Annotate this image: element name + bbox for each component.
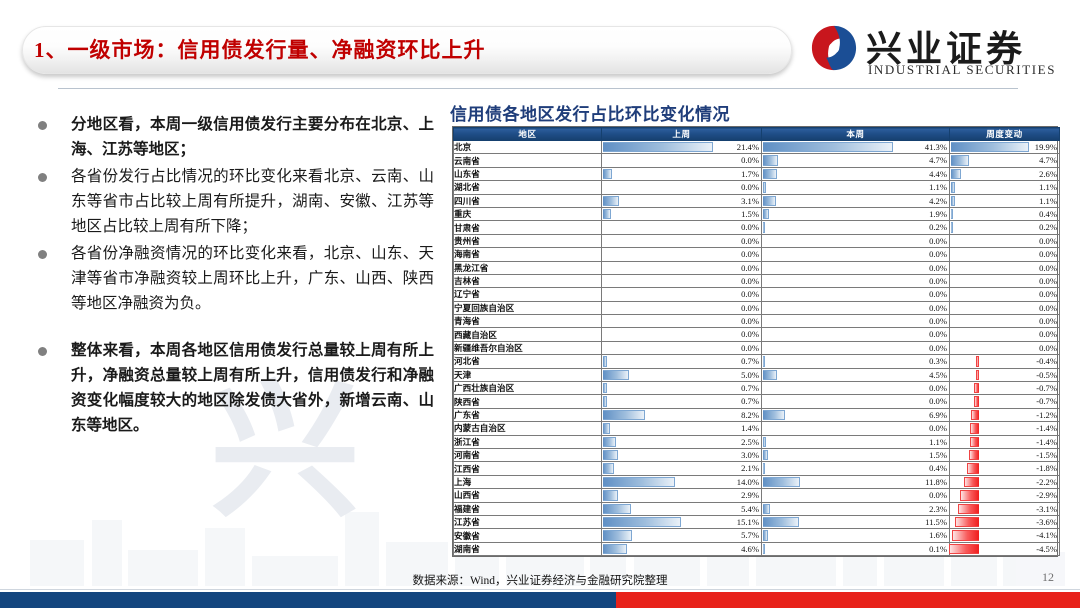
cell-region: 甘肃省 — [454, 221, 602, 234]
cell-change: 19.9% — [950, 141, 1060, 154]
data-bar — [949, 544, 979, 554]
cell-this-week: 0.4% — [762, 462, 950, 475]
cell-region: 宁夏回族自治区 — [454, 301, 602, 314]
cell-value: -0.7% — [1036, 395, 1057, 408]
data-bar — [763, 222, 765, 232]
cell-value: 0.0% — [929, 315, 947, 328]
data-bar — [974, 396, 979, 406]
data-bar — [974, 383, 979, 393]
data-bar — [951, 209, 953, 219]
cell-change: 0.0% — [950, 261, 1060, 274]
cell-value: 5.7% — [741, 529, 759, 542]
data-bar — [603, 370, 629, 380]
cell-value: 4.4% — [929, 168, 947, 181]
cell-this-week: 1.1% — [762, 181, 950, 194]
cell-region: 浙江省 — [454, 435, 602, 448]
cell-this-week: 1.5% — [762, 448, 950, 461]
cell-value: 0.0% — [929, 262, 947, 275]
table-row: 内蒙古自治区1.4%0.0%-1.4% — [454, 422, 1060, 435]
cell-last-week: 0.7% — [602, 382, 762, 395]
cell-value: 4.2% — [929, 195, 947, 208]
cell-value: 0.7% — [741, 382, 759, 395]
data-bar — [967, 463, 979, 473]
cell-region: 陕西省 — [454, 395, 602, 408]
table-row: 甘肃省0.0%0.2%0.2% — [454, 221, 1060, 234]
cell-change: -1.4% — [950, 422, 1060, 435]
cell-value: 1.7% — [741, 168, 759, 181]
data-bar — [976, 370, 979, 380]
cell-last-week: 1.5% — [602, 207, 762, 220]
cell-last-week: 0.0% — [602, 181, 762, 194]
bullet-text: 各省份发行占比情况的环比变化来看北京、云南、山东等省市占比较上周有所提升，湖南、… — [71, 164, 434, 239]
cell-this-week: 0.2% — [762, 221, 950, 234]
table-row: 云南省0.0%4.7%4.7% — [454, 154, 1060, 167]
cell-value: -1.5% — [1036, 449, 1057, 462]
cell-value: 3.1% — [741, 195, 759, 208]
bullet-text: 各省份净融资情况的环比变化来看，北京、山东、天津等省市净融资较上周环比上升，广东… — [71, 241, 434, 316]
cell-value: 1.9% — [929, 208, 947, 221]
table-row: 四川省3.1%4.2%1.1% — [454, 194, 1060, 207]
data-bar — [951, 222, 953, 232]
data-bar — [952, 530, 979, 540]
cell-this-week: 4.7% — [762, 154, 950, 167]
cell-this-week: 0.0% — [762, 315, 950, 328]
cell-region: 江苏省 — [454, 515, 602, 528]
cell-change: -2.9% — [950, 489, 1060, 502]
table-row: 西藏自治区0.0%0.0%0.0% — [454, 328, 1060, 341]
data-bar — [603, 517, 681, 527]
cell-region: 湖北省 — [454, 181, 602, 194]
table-row: 江西省2.1%0.4%-1.8% — [454, 462, 1060, 475]
cell-value: 0.0% — [929, 288, 947, 301]
data-bar — [763, 463, 765, 473]
table-row: 山东省1.7%4.4%2.6% — [454, 167, 1060, 180]
cell-value: 0.0% — [741, 181, 759, 194]
table-row: 江苏省15.1%11.5%-3.6% — [454, 515, 1060, 528]
cell-this-week: 0.1% — [762, 542, 950, 555]
data-bar — [603, 544, 627, 554]
cell-region: 上海 — [454, 475, 602, 488]
cell-value: 11.5% — [925, 516, 947, 529]
cell-value: 0.0% — [929, 382, 947, 395]
data-bar — [763, 544, 765, 554]
cell-last-week: 5.0% — [602, 368, 762, 381]
cell-change: -0.7% — [950, 382, 1060, 395]
table-row: 广东省8.2%6.9%-1.2% — [454, 408, 1060, 421]
cell-this-week: 0.0% — [762, 489, 950, 502]
cell-last-week: 4.6% — [602, 542, 762, 555]
cell-value: 4.7% — [1039, 154, 1057, 167]
cell-value: 0.7% — [741, 395, 759, 408]
col-header-region: 地区 — [454, 128, 602, 141]
data-bar — [603, 504, 631, 514]
cell-value: -1.4% — [1036, 422, 1057, 435]
data-bar — [951, 169, 961, 179]
cell-region: 安徽省 — [454, 529, 602, 542]
cell-value: 0.0% — [929, 328, 947, 341]
data-bar — [763, 182, 766, 192]
cell-last-week: 5.4% — [602, 502, 762, 515]
table-row: 宁夏回族自治区0.0%0.0%0.0% — [454, 301, 1060, 314]
table-row: 黑龙江省0.0%0.0%0.0% — [454, 261, 1060, 274]
cell-value: 0.0% — [1039, 288, 1057, 301]
cell-value: 0.0% — [1039, 342, 1057, 355]
col-header-this-week: 本周 — [762, 128, 950, 141]
logo-text-en: INDUSTRIAL SECURITIES — [868, 62, 1056, 78]
data-bar — [763, 410, 785, 420]
header-divider — [58, 88, 1018, 89]
data-bar — [763, 517, 799, 527]
cell-value: 1.5% — [741, 208, 759, 221]
cell-value: 0.0% — [741, 221, 759, 234]
cell-last-week: 3.1% — [602, 194, 762, 207]
cell-last-week: 14.0% — [602, 475, 762, 488]
cell-last-week: 15.1% — [602, 515, 762, 528]
cell-change: 0.0% — [950, 341, 1060, 354]
bullet-text: 分地区看，本周一级信用债发行主要分布在北京、上海、江苏等地区； — [71, 112, 434, 162]
data-bar — [763, 196, 776, 206]
cell-value: 1.6% — [929, 529, 947, 542]
cell-this-week: 11.5% — [762, 515, 950, 528]
data-bar — [969, 450, 979, 460]
data-bar — [976, 356, 979, 366]
table-row: 陕西省0.7%0.0%-0.7% — [454, 395, 1060, 408]
table-row: 福建省5.4%2.3%-3.1% — [454, 502, 1060, 515]
page-number: 12 — [1042, 570, 1054, 585]
table-row: 贵州省0.0%0.0%0.0% — [454, 234, 1060, 247]
cell-last-week: 0.0% — [602, 221, 762, 234]
data-bar — [763, 450, 768, 460]
data-bar — [603, 209, 611, 219]
cell-last-week: 0.0% — [602, 154, 762, 167]
col-header-last-week: 上周 — [602, 128, 762, 141]
cell-this-week: 0.0% — [762, 382, 950, 395]
cell-this-week: 4.5% — [762, 368, 950, 381]
cell-last-week: 0.0% — [602, 301, 762, 314]
table-row: 新疆维吾尔自治区0.0%0.0%0.0% — [454, 341, 1060, 354]
data-bar — [763, 437, 766, 447]
cell-last-week: 0.0% — [602, 288, 762, 301]
cell-region: 河南省 — [454, 448, 602, 461]
data-bar — [603, 530, 632, 540]
cell-value: 0.0% — [1039, 328, 1057, 341]
cell-value: 4.7% — [929, 154, 947, 167]
swirl-logo-icon — [810, 24, 858, 72]
cell-region: 西藏自治区 — [454, 328, 602, 341]
cell-change: -0.7% — [950, 395, 1060, 408]
cell-change: 0.0% — [950, 234, 1060, 247]
cell-change: 0.0% — [950, 328, 1060, 341]
data-bar — [763, 504, 770, 514]
cell-change: 0.0% — [950, 315, 1060, 328]
cell-change: 0.0% — [950, 301, 1060, 314]
data-bar — [603, 142, 713, 152]
cell-value: -0.5% — [1036, 369, 1057, 382]
cell-value: 0.0% — [1039, 235, 1057, 248]
cell-last-week: 8.2% — [602, 408, 762, 421]
cell-this-week: 0.0% — [762, 274, 950, 287]
cell-value: 0.0% — [741, 342, 759, 355]
table-row: 山西省2.9%0.0%-2.9% — [454, 489, 1060, 502]
cell-value: 2.5% — [741, 436, 759, 449]
cell-value: 0.0% — [1039, 302, 1057, 315]
bullet-item: 整体来看，本周各地区信用债发行总量较上周有所上升，净融资总量较上周有所上升，信用… — [24, 338, 434, 438]
cell-change: 1.1% — [950, 194, 1060, 207]
cell-value: 0.3% — [929, 355, 947, 368]
data-bar — [951, 142, 1029, 152]
cell-value: 3.0% — [741, 449, 759, 462]
cell-value: 0.0% — [929, 395, 947, 408]
cell-change: -4.1% — [950, 529, 1060, 542]
cell-region: 辽宁省 — [454, 288, 602, 301]
cell-this-week: 6.9% — [762, 408, 950, 421]
col-header-change: 周度变动 — [950, 128, 1060, 141]
cell-this-week: 0.0% — [762, 234, 950, 247]
cell-last-week: 0.0% — [602, 248, 762, 261]
cell-value: 0.0% — [741, 262, 759, 275]
cell-value: 0.0% — [741, 288, 759, 301]
data-bar — [960, 490, 979, 500]
bullet-item: 各省份净融资情况的环比变化来看，北京、山东、天津等省市净融资较上周环比上升，广东… — [24, 241, 434, 316]
cell-value: 4.5% — [929, 369, 947, 382]
cell-this-week: 0.0% — [762, 328, 950, 341]
data-bar — [603, 169, 612, 179]
cell-change: 0.0% — [950, 248, 1060, 261]
cell-this-week: 1.9% — [762, 207, 950, 220]
data-bar — [763, 142, 893, 152]
cell-value: -3.1% — [1036, 503, 1057, 516]
cell-last-week: 0.0% — [602, 274, 762, 287]
cell-region: 海南省 — [454, 248, 602, 261]
data-bar — [951, 196, 955, 206]
cell-last-week: 5.7% — [602, 529, 762, 542]
cell-value: 0.4% — [1039, 208, 1057, 221]
cell-value: 0.0% — [929, 302, 947, 315]
cell-last-week: 0.0% — [602, 234, 762, 247]
data-bar — [603, 410, 645, 420]
table-row: 重庆1.5%1.9%0.4% — [454, 207, 1060, 220]
cell-change: 1.1% — [950, 181, 1060, 194]
cell-value: 2.6% — [1039, 168, 1057, 181]
cell-region: 河北省 — [454, 355, 602, 368]
cell-change: 0.0% — [950, 288, 1060, 301]
cell-value: 1.4% — [741, 422, 759, 435]
cell-change: 0.0% — [950, 274, 1060, 287]
data-bar — [603, 450, 618, 460]
cell-value: 0.0% — [741, 154, 759, 167]
data-bar — [603, 490, 618, 500]
cell-value: -2.2% — [1036, 476, 1057, 489]
cell-region: 四川省 — [454, 194, 602, 207]
data-bar — [763, 477, 800, 487]
cell-change: -3.1% — [950, 502, 1060, 515]
cell-last-week: 21.4% — [602, 141, 762, 154]
table-row: 河南省3.0%1.5%-1.5% — [454, 448, 1060, 461]
cell-value: 2.1% — [741, 462, 759, 475]
cell-value: 0.0% — [929, 489, 947, 502]
cell-region: 贵州省 — [454, 234, 602, 247]
cell-value: 41.3% — [925, 141, 947, 154]
cell-value: 1.1% — [1039, 195, 1057, 208]
cell-this-week: 0.0% — [762, 288, 950, 301]
bullet-dot-icon — [38, 121, 47, 130]
cell-value: 0.0% — [929, 342, 947, 355]
cell-last-week: 3.0% — [602, 448, 762, 461]
cell-this-week: 0.0% — [762, 341, 950, 354]
table-row: 上海14.0%11.8%-2.2% — [454, 475, 1060, 488]
table-header-row: 地区 上周 本周 周度变动 — [454, 128, 1060, 141]
cell-change: 0.2% — [950, 221, 1060, 234]
data-bar — [603, 356, 607, 366]
cell-this-week: 1.6% — [762, 529, 950, 542]
table-row: 河北省0.7%0.3%-0.4% — [454, 355, 1060, 368]
cell-value: 0.0% — [741, 248, 759, 261]
cell-last-week: 0.0% — [602, 261, 762, 274]
cell-this-week: 4.2% — [762, 194, 950, 207]
cell-value: 0.2% — [929, 221, 947, 234]
cell-value: 11.8% — [925, 476, 947, 489]
cell-value: 0.7% — [741, 355, 759, 368]
cell-this-week: 0.0% — [762, 248, 950, 261]
bullet-dot-icon — [38, 347, 47, 356]
footer-divider — [0, 589, 1080, 590]
data-bar — [763, 209, 769, 219]
cell-value: -4.5% — [1036, 543, 1057, 556]
data-bar — [970, 423, 979, 433]
cell-region: 吉林省 — [454, 274, 602, 287]
cell-region: 青海省 — [454, 315, 602, 328]
cell-region: 重庆 — [454, 207, 602, 220]
cell-value: 0.2% — [1039, 221, 1057, 234]
cell-last-week: 0.7% — [602, 395, 762, 408]
cell-value: 19.9% — [1035, 141, 1057, 154]
cell-this-week: 0.3% — [762, 355, 950, 368]
cell-value: 2.9% — [741, 489, 759, 502]
company-logo: 兴业证券 INDUSTRIAL SECURITIES — [810, 22, 1062, 84]
cell-value: 0.0% — [1039, 275, 1057, 288]
cell-value: 0.0% — [1039, 262, 1057, 275]
data-bar — [955, 517, 979, 527]
cell-value: -4.1% — [1036, 529, 1057, 542]
cell-value: 0.0% — [1039, 248, 1057, 261]
cell-value: 0.0% — [929, 248, 947, 261]
cell-region: 山东省 — [454, 167, 602, 180]
table-row: 湖北省0.0%1.1%1.1% — [454, 181, 1060, 194]
cell-last-week: 0.0% — [602, 341, 762, 354]
data-bar — [958, 504, 979, 514]
cell-change: -4.5% — [950, 542, 1060, 555]
cell-value: -3.6% — [1036, 516, 1057, 529]
cell-last-week: 2.1% — [602, 462, 762, 475]
bullet-item: 分地区看，本周一级信用债发行主要分布在北京、上海、江苏等地区； — [24, 112, 434, 162]
data-bar — [951, 155, 969, 165]
table-row: 湖南省4.6%0.1%-4.5% — [454, 542, 1060, 555]
cell-change: -1.5% — [950, 448, 1060, 461]
cell-region: 北京 — [454, 141, 602, 154]
data-bar — [603, 437, 616, 447]
cell-value: 1.1% — [1039, 181, 1057, 194]
slide-header: 1、一级市场：信用债发行量、净融资环比上升 兴业证券 INDUSTRIAL SE… — [0, 0, 1080, 96]
cell-value: 0.0% — [929, 275, 947, 288]
cell-value: 15.1% — [737, 516, 759, 529]
cell-region: 山西省 — [454, 489, 602, 502]
table-row: 海南省0.0%0.0%0.0% — [454, 248, 1060, 261]
cell-region: 江西省 — [454, 462, 602, 475]
cell-this-week: 0.0% — [762, 395, 950, 408]
cell-last-week: 2.9% — [602, 489, 762, 502]
data-bar — [603, 196, 619, 206]
table-row: 浙江省2.5%1.1%-1.4% — [454, 435, 1060, 448]
cell-value: -0.4% — [1036, 355, 1057, 368]
cell-value: 0.1% — [929, 543, 947, 556]
cell-value: -1.4% — [1036, 436, 1057, 449]
cell-value: 1.1% — [929, 436, 947, 449]
cell-change: 2.6% — [950, 167, 1060, 180]
cell-value: 0.0% — [741, 235, 759, 248]
cell-region: 云南省 — [454, 154, 602, 167]
footer-bar-blue — [0, 592, 616, 608]
bullet-text: 整体来看，本周各地区信用债发行总量较上周有所上升，净融资总量较上周有所上升，信用… — [71, 338, 434, 438]
cell-value: 6.9% — [929, 409, 947, 422]
data-bar — [603, 463, 614, 473]
cell-value: -1.2% — [1036, 409, 1057, 422]
cell-region: 黑龙江省 — [454, 261, 602, 274]
cell-region: 广西壮族自治区 — [454, 382, 602, 395]
cell-value: 1.5% — [929, 449, 947, 462]
data-bar — [603, 477, 675, 487]
cell-value: 8.2% — [741, 409, 759, 422]
bullet-item: 各省份发行占比情况的环比变化来看北京、云南、山东等省市占比较上周有所提升，湖南、… — [24, 164, 434, 239]
footer-bar-red — [616, 592, 1080, 608]
data-bar — [970, 437, 979, 447]
cell-region: 内蒙古自治区 — [454, 422, 602, 435]
bullet-dot-icon — [38, 173, 47, 182]
cell-value: -0.7% — [1036, 382, 1057, 395]
cell-value: 4.6% — [741, 543, 759, 556]
cell-last-week: 1.4% — [602, 422, 762, 435]
cell-value: 0.0% — [929, 235, 947, 248]
cell-region: 湖南省 — [454, 542, 602, 555]
cell-value: 21.4% — [737, 141, 759, 154]
data-bar — [763, 155, 778, 165]
cell-this-week: 0.0% — [762, 301, 950, 314]
data-bar — [603, 423, 610, 433]
cell-change: 0.4% — [950, 207, 1060, 220]
cell-region: 广东省 — [454, 408, 602, 421]
cell-change: -0.4% — [950, 355, 1060, 368]
data-bar — [763, 169, 777, 179]
cell-region: 福建省 — [454, 502, 602, 515]
cell-this-week: 0.0% — [762, 261, 950, 274]
cell-value: 5.0% — [741, 369, 759, 382]
cell-last-week: 2.5% — [602, 435, 762, 448]
cell-change: -1.8% — [950, 462, 1060, 475]
cell-change: -1.4% — [950, 435, 1060, 448]
cell-this-week: 11.8% — [762, 475, 950, 488]
cell-change: -2.2% — [950, 475, 1060, 488]
cell-value: 14.0% — [737, 476, 759, 489]
cell-value: 5.4% — [741, 503, 759, 516]
cell-value: 0.0% — [741, 315, 759, 328]
table-row: 安徽省5.7%1.6%-4.1% — [454, 529, 1060, 542]
cell-this-week: 4.4% — [762, 167, 950, 180]
data-bar — [603, 383, 607, 393]
table-row: 辽宁省0.0%0.0%0.0% — [454, 288, 1060, 301]
cell-change: -1.2% — [950, 408, 1060, 421]
cell-change: -3.6% — [950, 515, 1060, 528]
cell-change: 4.7% — [950, 154, 1060, 167]
cell-last-week: 1.7% — [602, 167, 762, 180]
